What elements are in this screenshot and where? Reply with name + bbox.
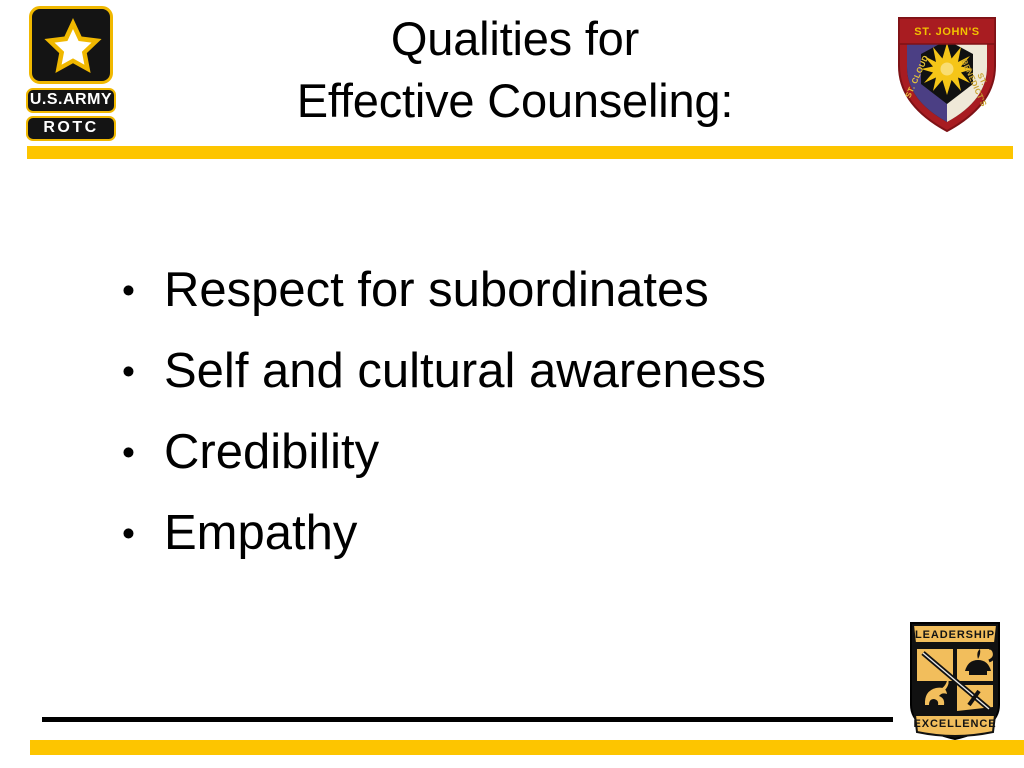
army-star-emblem: [29, 6, 113, 84]
bullet-text: Credibility: [164, 425, 379, 479]
st-johns-st-benedicts-patch: ST. JOHN'S ST. CLOUD ST. BENEDICT'S: [893, 10, 1001, 135]
rotc-wordmark-box: ROTC: [26, 116, 116, 141]
star-icon: [42, 16, 104, 76]
slide-canvas: U.S.ARMY ROTC Qualities for Effective Co…: [0, 0, 1024, 768]
title-line-1: Qualities for: [160, 8, 870, 70]
bullet-icon: •: [122, 250, 135, 331]
footer-gold-bar: [30, 740, 1024, 755]
bullet-icon: •: [122, 493, 135, 574]
bullet-text: Empathy: [164, 506, 357, 560]
list-item: • Self and cultural awareness: [118, 331, 938, 412]
bullet-icon: •: [122, 412, 135, 493]
army-wordmark-box: U.S.ARMY: [26, 88, 116, 113]
list-item: • Respect for subordinates: [118, 250, 938, 331]
us-army-rotc-logo: U.S.ARMY ROTC: [26, 6, 116, 140]
bullet-text: Self and cultural awareness: [164, 344, 766, 398]
bullet-icon: •: [122, 331, 135, 412]
list-item: • Credibility: [118, 412, 938, 493]
leadership-excellence-icon: [903, 619, 1007, 743]
header-gold-bar: [27, 146, 1013, 159]
bullet-text: Respect for subordinates: [164, 263, 709, 317]
footer-black-rule: [42, 717, 893, 722]
title-line-2: Effective Counseling:: [160, 70, 870, 132]
rotc-leadership-excellence-shield: LEADERSHIP EXCELLENCE: [903, 619, 1007, 743]
slide-title: Qualities for Effective Counseling:: [160, 8, 870, 132]
bullet-list: • Respect for subordinates • Self and cu…: [118, 250, 938, 574]
shield-patch-icon: [893, 10, 1001, 135]
list-item: • Empathy: [118, 493, 938, 574]
